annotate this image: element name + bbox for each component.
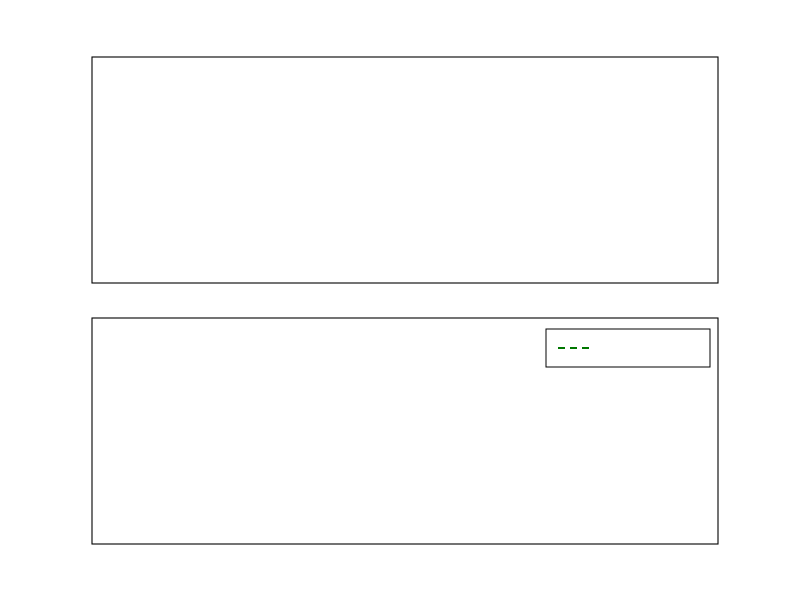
matplotlib-figure	[0, 0, 800, 600]
top-axes-frame	[92, 57, 718, 283]
legend[interactable]	[546, 329, 710, 367]
top-axes	[92, 57, 718, 283]
bottom-axes	[0, 0, 718, 544]
figure-canvas	[0, 0, 800, 600]
